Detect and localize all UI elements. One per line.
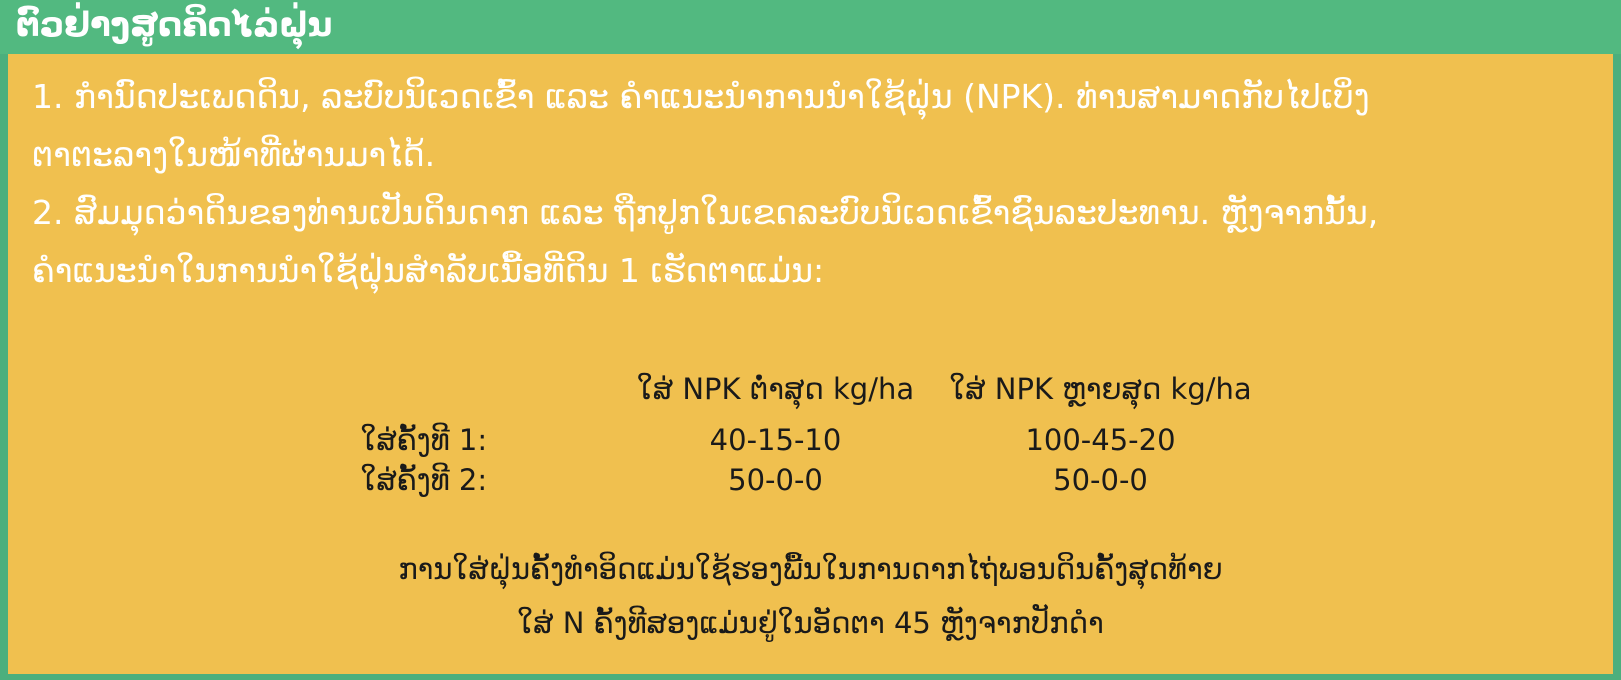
intro-line-1: 1. ກຳນົດປະເພດດິນ, ລະບົບນິເວດເຂົ້າ ແລະ ຄຳ… [32, 68, 1592, 126]
table-header-row: ໃສ່ NPK ຕໍ່າສຸດ kg/ha ໃສ່ NPK ຫຼາຍສຸດ kg… [361, 372, 1261, 420]
row-label: ໃສ່ຄັ້ງທີ 1: [361, 420, 611, 460]
row-min-value: 40-15-10 [611, 420, 941, 460]
row-max-value: 100-45-20 [941, 420, 1261, 460]
intro-line-4: ຄຳແນະນຳໃນການນຳໃຊ້ຝຸ່ນສຳລັບເນື້ອທີ່ດິນ 1 … [32, 242, 1592, 300]
table-row: ໃສ່ຄັ້ງທີ 2: 50-0-0 50-0-0 [361, 460, 1261, 500]
table-header-max: ໃສ່ NPK ຫຼາຍສຸດ kg/ha [941, 372, 1261, 420]
page-title: ຕົວຢ່າງສູດຄິດໄລ່ຝຸ່ນ [16, 2, 332, 48]
row-label: ໃສ່ຄັ້ງທີ 2: [361, 460, 611, 500]
intro-line-2: ຕາຕະລາງໃນໜ້າທີ່ຜ່ານມາໄດ້. [32, 126, 1592, 184]
table-header-min: ໃສ່ NPK ຕໍ່າສຸດ kg/ha [611, 372, 941, 420]
row-max-value: 50-0-0 [941, 460, 1261, 500]
table-head: ໃສ່ NPK ຕໍ່າສຸດ kg/ha ໃສ່ NPK ຫຼາຍສຸດ kg… [361, 372, 1261, 420]
note-line-1: ການໃສ່ຝຸ່ນຄັ້ງທຳອິດແມ່ນໃຊ້ຮອງພື້ນໃນການດາ… [8, 542, 1613, 596]
notes-block: ການໃສ່ຝຸ່ນຄັ້ງທຳອິດແມ່ນໃຊ້ຮອງພື້ນໃນການດາ… [8, 542, 1613, 650]
intro-line-3: 2. ສົມມຸດວ່າດິນຂອງທ່ານເປັນດິນດາກ ແລະ ຖືກ… [32, 184, 1592, 242]
row-min-value: 50-0-0 [611, 460, 941, 500]
header-bar: ຕົວຢ່າງສູດຄິດໄລ່ຝຸ່ນ [0, 0, 1621, 54]
table-header-label-spacer [361, 372, 611, 420]
intro-text-block: 1. ກຳນົດປະເພດດິນ, ລະບົບນິເວດເຂົ້າ ແລະ ຄຳ… [32, 68, 1592, 300]
content-panel: 1. ກຳນົດປະເພດດິນ, ລະບົບນິເວດເຂົ້າ ແລະ ຄຳ… [8, 54, 1613, 674]
fertilizer-table: ໃສ່ NPK ຕໍ່າສຸດ kg/ha ໃສ່ NPK ຫຼາຍສຸດ kg… [361, 372, 1261, 500]
note-line-2: ໃສ່ N ຄັ້ງທີສອງແມ່ນຢູ່ໃນອັດຕາ 45 ຫຼັງຈາກ… [8, 596, 1613, 650]
fertilizer-table-block: ໃສ່ NPK ຕໍ່າສຸດ kg/ha ໃສ່ NPK ຫຼາຍສຸດ kg… [8, 372, 1613, 500]
table-body: ໃສ່ຄັ້ງທີ 1: 40-15-10 100-45-20 ໃສ່ຄັ້ງທ… [361, 420, 1261, 500]
slide-screen: ຕົວຢ່າງສູດຄິດໄລ່ຝຸ່ນ 1. ກຳນົດປະເພດດິນ, ລ… [0, 0, 1621, 680]
table-row: ໃສ່ຄັ້ງທີ 1: 40-15-10 100-45-20 [361, 420, 1261, 460]
